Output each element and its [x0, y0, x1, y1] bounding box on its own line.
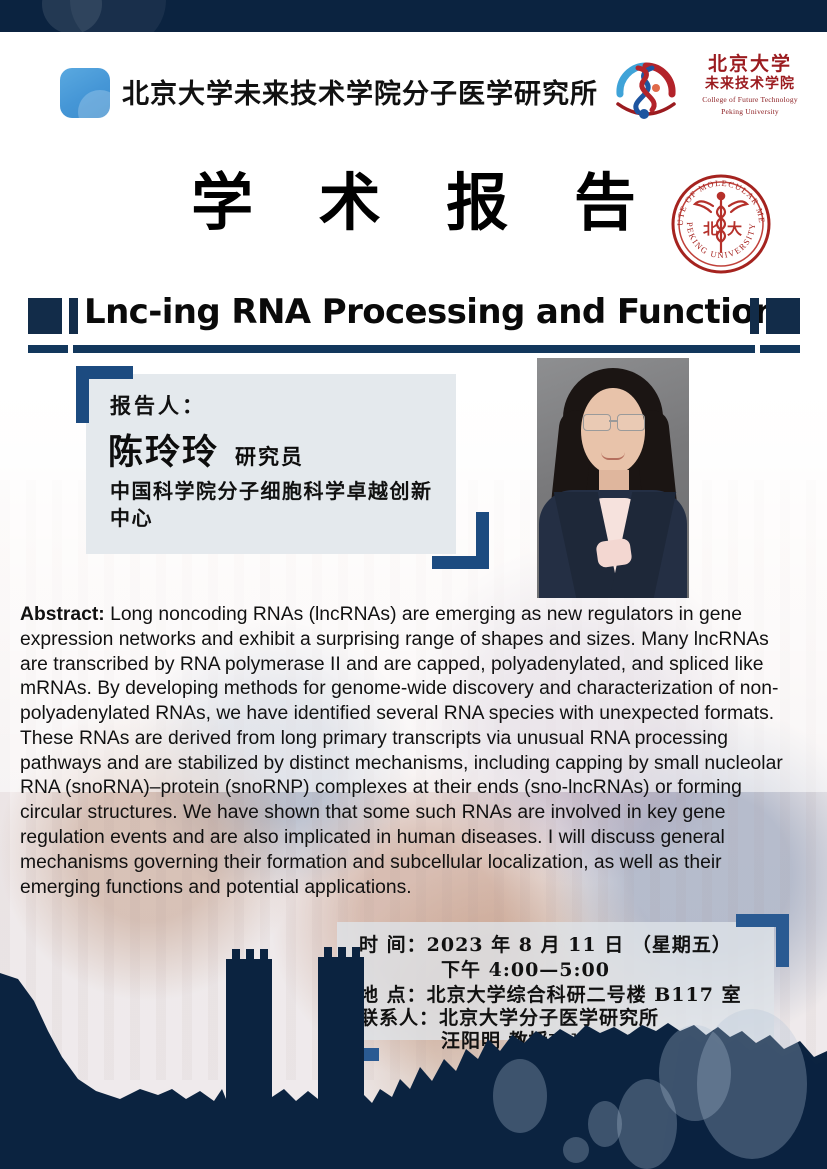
speaker-affiliation: 中国科学院分子细胞科学卓越创新中心	[110, 478, 440, 532]
cft-logo: 北京大学 未来技术学院 College of Future Technology…	[608, 50, 808, 136]
abstract-text: Abstract: Long noncoding RNAs (lncRNAs) …	[20, 602, 798, 899]
institute-name: 北京大学未来技术学院分子医学研究所	[122, 72, 598, 111]
portrait-glasses-right	[617, 414, 645, 431]
poster-header: 北京大学未来技术学院分子医学研究所 北京大学 未来技术学院 College of…	[0, 32, 827, 162]
portrait-face	[581, 388, 645, 474]
cft-en-line1: College of Future Technology	[690, 95, 810, 105]
speaker-rank: 研究员	[235, 444, 304, 469]
poster-en-title: Lnc-ing RNA Processing and Function	[84, 292, 744, 332]
poster-cn-title: 学 术 报 告	[0, 172, 827, 234]
cft-logo-text: 北京大学 未来技术学院 College of Future Technology…	[690, 54, 810, 117]
abstract-label: Abstract:	[20, 603, 105, 625]
speaker-name: 陈玲玲	[108, 432, 219, 473]
cft-en-line2: Peking University	[690, 107, 810, 117]
cft-cn-line1: 北京大学	[690, 54, 810, 75]
title-decor-bar-left	[69, 298, 78, 334]
rule-segment	[760, 345, 800, 353]
cft-cn-line2: 未来技术学院	[690, 75, 810, 93]
bottom-skyline-silhouette	[0, 939, 827, 1169]
poster-en-title-row: Lnc-ing RNA Processing and Function	[28, 296, 800, 344]
dna-helix-circle-icon	[608, 54, 684, 130]
circle-decor	[493, 1059, 547, 1133]
speaker-bracket-top-left	[76, 366, 133, 423]
title-decor-bar-right	[750, 298, 759, 334]
circle-decor	[588, 1101, 622, 1147]
band-circle-decor	[70, 0, 166, 32]
portrait-glasses-left	[583, 414, 611, 431]
speaker-bracket-bottom-right	[432, 512, 489, 569]
abstract-body: Long noncoding RNAs (lncRNAs) are emergi…	[20, 603, 783, 898]
speaker-portrait	[537, 358, 689, 598]
speaker-name-row: 陈玲玲研究员	[108, 424, 304, 475]
title-decor-square-right	[766, 298, 800, 334]
portrait-glasses-bridge	[609, 420, 617, 422]
institute-logo-icon	[60, 68, 110, 118]
rule-segment	[73, 345, 755, 353]
circle-decor	[563, 1137, 589, 1163]
portrait-blouse-bow	[595, 538, 632, 568]
circle-decor	[617, 1079, 677, 1169]
title-underline-rule	[28, 345, 800, 353]
title-decor-square-left	[28, 298, 62, 334]
bottom-circle-decor-group	[467, 969, 827, 1169]
speaker-info-box: 报告人： 陈玲玲研究员 中国科学院分子细胞科学卓越创新中心	[86, 374, 456, 554]
poster-root: 北京大学未来技术学院分子医学研究所 北京大学 未来技术学院 College of…	[0, 0, 827, 1169]
rule-segment	[28, 345, 68, 353]
top-navy-band	[0, 0, 827, 32]
